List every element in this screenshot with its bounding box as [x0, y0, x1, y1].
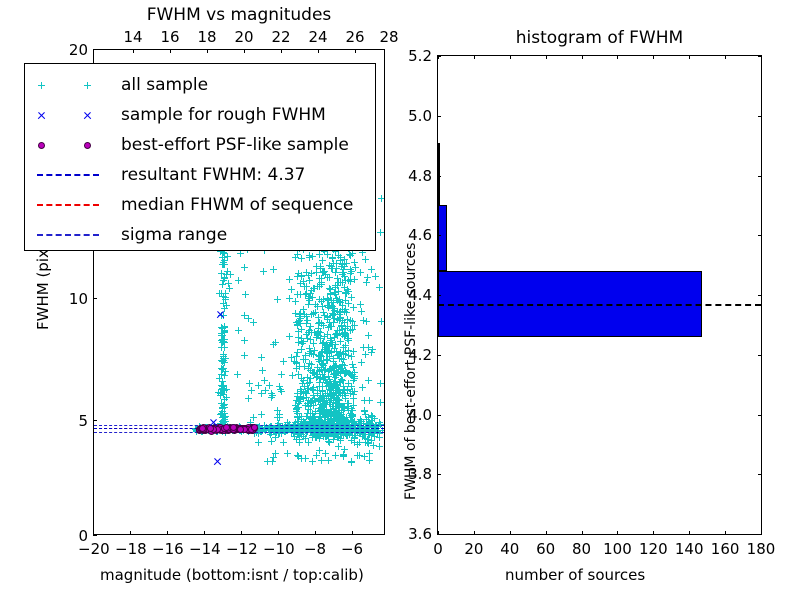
scatter-point-all	[346, 429, 353, 436]
scatter-point-all	[218, 332, 225, 339]
scatter-point-all	[310, 310, 317, 317]
scatter-point-all	[241, 312, 248, 319]
scatter-point-all	[219, 366, 226, 373]
scatter-point-all	[333, 348, 340, 355]
scatter-point-all	[293, 319, 300, 326]
scatter-point-all	[342, 342, 349, 349]
scatter-point-all	[323, 383, 330, 390]
scatter-point-all	[345, 347, 352, 354]
legend-entry[interactable]: resultant FWHM: 4.37	[25, 160, 375, 190]
scatter-point-all	[218, 270, 225, 277]
scatter-point-all	[341, 329, 348, 336]
scatter-point-all	[324, 316, 331, 323]
histogram-y-tick	[758, 355, 762, 356]
scatter-point-all	[304, 380, 311, 387]
scatter-point-all	[326, 343, 333, 350]
scatter-point-all	[327, 397, 334, 404]
scatter-point-all	[365, 440, 372, 447]
scatter-point-all	[364, 436, 371, 443]
scatter-point-all	[316, 296, 323, 303]
scatter-point-all	[220, 261, 227, 268]
scatter-point-all	[284, 450, 291, 457]
scatter-point-all	[335, 416, 342, 423]
dashed-line-icon	[37, 234, 99, 236]
scatter-point-all	[321, 398, 328, 405]
scatter-point-all	[342, 392, 349, 399]
scatter-point-all	[343, 290, 350, 297]
scatter-point-all	[264, 458, 271, 465]
scatter-point-all	[333, 405, 340, 412]
scatter-point-all	[302, 352, 309, 359]
scatter-point-all	[255, 430, 262, 437]
scatter-point-all	[298, 416, 305, 423]
legend-entry[interactable]: best-effort PSF-like sample	[25, 130, 375, 160]
scatter-point-all	[280, 358, 287, 365]
scatter-point-all	[334, 434, 341, 441]
scatter-point-all	[294, 414, 301, 421]
histogram-y-tick	[437, 235, 441, 236]
scatter-point-all	[337, 299, 344, 306]
scatter-point-all	[320, 362, 327, 369]
scatter-point-all	[350, 391, 357, 398]
scatter-point-all	[310, 414, 317, 421]
scatter-point-all	[312, 434, 319, 441]
scatter-point-all	[303, 313, 310, 320]
scatter-point-all	[297, 310, 304, 317]
scatter-point-all	[323, 341, 330, 348]
histogram-x-tick-top	[761, 55, 762, 59]
scatter-point-all	[341, 256, 348, 263]
scatter-point-all	[366, 457, 373, 464]
scatter-point-all	[218, 410, 225, 417]
scatter-point-all	[319, 404, 326, 411]
scatter-point-all	[304, 317, 311, 324]
scatter-point-all	[331, 392, 338, 399]
scatter-point-all	[336, 402, 343, 409]
scatter-point-all	[222, 413, 229, 420]
scatter-point-all	[332, 408, 339, 415]
scatter-point-all	[248, 387, 255, 394]
scatter-point-all	[323, 349, 330, 356]
legend-entry[interactable]: sample for rough FWHM	[25, 100, 375, 130]
scatter-point-all	[333, 411, 340, 418]
scatter-point-all	[346, 370, 353, 377]
scatter-point-all	[339, 326, 346, 333]
scatter-point-all	[344, 403, 351, 410]
scatter-point-all	[319, 388, 326, 395]
histogram-y-ticklabel: 4.8	[388, 167, 432, 185]
scatter-point-all	[241, 337, 248, 344]
legend-entry[interactable]: median FHWM of sequence	[25, 190, 375, 220]
scatter-point-all	[338, 376, 345, 383]
scatter-point-all	[275, 420, 282, 427]
scatter-point-all	[361, 397, 368, 404]
scatter-point-all	[218, 290, 225, 297]
scatter-point-all	[317, 375, 324, 382]
scatter-point-all	[219, 336, 226, 343]
scatter-point-all	[315, 352, 322, 359]
scatter-point-all	[319, 403, 326, 410]
scatter-point-all	[341, 263, 348, 270]
scatter-point-all	[320, 400, 327, 407]
legend-box[interactable]: all samplesample for rough FWHMbest-effo…	[24, 63, 376, 251]
scatter-point-all	[318, 353, 325, 360]
scatter-point-all	[221, 404, 228, 411]
scatter-point-all	[314, 390, 321, 397]
scatter-point-all	[288, 286, 295, 293]
scatter-point-all	[332, 269, 339, 276]
scatter-point-all	[221, 359, 228, 366]
scatter-point-all	[258, 390, 265, 397]
scatter-point-all	[330, 371, 337, 378]
scatter-point-all	[310, 417, 317, 424]
scatter-point-all	[333, 395, 340, 402]
scatter-point-all	[219, 339, 226, 346]
scatter-point-all	[319, 387, 326, 394]
scatter-point-all	[323, 395, 330, 402]
scatter-point-all	[326, 410, 333, 417]
scatter-point-all	[318, 406, 325, 413]
scatter-point-all	[337, 254, 344, 261]
scatter-point-all	[286, 333, 293, 340]
histogram-y-tick	[758, 116, 762, 117]
scatter-point-all	[332, 408, 339, 415]
scatter-point-all	[348, 268, 355, 275]
histogram-y-tick	[758, 176, 762, 177]
scatter-point-all	[308, 287, 315, 294]
scatter-point-all	[321, 414, 328, 421]
scatter-point-all	[298, 388, 305, 395]
scatter-point-all	[310, 414, 317, 421]
scatter-point-all	[307, 429, 314, 436]
scatter-point-all	[333, 372, 340, 379]
histogram-x-ticklabel: 100	[601, 540, 633, 558]
scatter-point-all	[325, 393, 332, 400]
scatter-point-all	[280, 439, 287, 446]
scatter-point-all	[298, 375, 305, 382]
histogram-title: histogram of FWHM	[437, 28, 762, 48]
scatter-point-all	[276, 411, 283, 418]
scatter-point-all	[307, 367, 314, 374]
scatter-point-all	[330, 382, 337, 389]
legend-entry-label: all sample	[121, 75, 208, 95]
scatter-point-all	[336, 298, 343, 305]
scatter-point-all	[347, 390, 354, 397]
scatter-point-all	[341, 446, 348, 453]
scatter-point-all	[308, 311, 315, 318]
scatter-point-all	[301, 420, 308, 427]
scatter-point-all	[351, 418, 358, 425]
scatter-point-all	[313, 374, 320, 381]
scatter-point-all	[292, 254, 299, 261]
scatter-point-all	[246, 380, 253, 387]
scatter-point-all	[293, 360, 300, 367]
scatter-point-all	[319, 269, 326, 276]
scatter-point-all	[347, 270, 354, 277]
scatter-point-all	[331, 363, 338, 370]
scatter-point-all	[307, 290, 314, 297]
scatter-point-all	[345, 400, 352, 407]
scatter-point-all	[347, 414, 354, 421]
scatter-point-all	[320, 269, 327, 276]
scatter-point-all	[365, 344, 372, 351]
scatter-point-all	[357, 301, 364, 308]
scatter-point-all	[313, 263, 320, 270]
scatter-point-all	[326, 274, 333, 281]
scatter-point-all	[329, 255, 336, 262]
scatter-point-all	[270, 266, 277, 273]
scatter-point-all	[310, 340, 317, 347]
scatter-point-all	[299, 340, 306, 347]
scatter-point-all	[358, 359, 365, 366]
scatter-point-all	[255, 439, 262, 446]
scatter-point-all	[221, 387, 228, 394]
scatter-point-all	[342, 342, 349, 349]
scatter-point-all	[322, 411, 329, 418]
scatter-point-all	[268, 394, 275, 401]
scatter-point-all	[332, 452, 339, 459]
scatter-point-all	[218, 324, 225, 331]
scatter-point-all	[241, 352, 248, 359]
scatter-point-all	[318, 298, 325, 305]
scatter-point-all	[331, 416, 338, 423]
scatter-point-all	[348, 417, 355, 424]
scatter-point-all	[344, 316, 351, 323]
scatter-point-all	[342, 370, 349, 377]
scatter-point-all	[310, 351, 317, 358]
scatter-point-all	[327, 290, 334, 297]
legend-entry[interactable]: sigma range	[25, 220, 375, 250]
scatter-point-all	[348, 372, 355, 379]
scatter-point-all	[340, 351, 347, 358]
scatter-point-all	[324, 342, 331, 349]
scatter-point-all	[224, 268, 231, 275]
scatter-point-all	[342, 290, 349, 297]
scatter-point-all	[351, 373, 358, 380]
scatter-point-all	[314, 364, 321, 371]
scatter-point-all	[302, 402, 309, 409]
scatter-point-all	[341, 390, 348, 397]
scatter-point-all	[326, 439, 333, 446]
scatter-point-all	[311, 416, 318, 423]
scatter-point-all	[298, 335, 305, 342]
scatter-point-all	[326, 353, 333, 360]
scatter-point-all	[338, 322, 345, 329]
scatter-point-all	[294, 349, 301, 356]
scatter-point-all	[317, 352, 324, 359]
histogram-y-tick	[437, 176, 441, 177]
scatter-point-all	[321, 346, 328, 353]
scatter-point-all	[298, 272, 305, 279]
scatter-point-all	[218, 330, 225, 337]
sigma-range-lower-line	[94, 432, 384, 433]
scatter-point-all	[266, 382, 273, 389]
scatter-point-all	[330, 380, 337, 387]
scatter-point-all	[217, 392, 224, 399]
scatter-point-all	[330, 311, 337, 318]
histogram-x-tick-top	[582, 55, 583, 59]
scatter-point-all	[351, 434, 358, 441]
scatter-point-all	[219, 414, 226, 421]
scatter-point-all	[376, 434, 383, 441]
scatter-point-all	[342, 325, 349, 332]
scatter-point-all	[303, 394, 310, 401]
histogram-x-ticklabel: 0	[422, 540, 454, 558]
scatter-point-all	[322, 433, 329, 440]
scatter-point-all	[305, 403, 312, 410]
histogram-x-tick	[546, 531, 547, 535]
scatter-point-all	[261, 377, 268, 384]
scatter-point-all	[347, 371, 354, 378]
scatter-point-all	[335, 387, 342, 394]
scatter-point-all	[321, 414, 328, 421]
scatter-point-all	[337, 378, 344, 385]
scatter-point-all	[220, 312, 227, 319]
scatter-point-all	[327, 390, 334, 397]
histogram-resultant-fwhm-line	[438, 304, 761, 306]
scatter-point-all	[294, 410, 301, 417]
scatter-point-all	[336, 296, 343, 303]
scatter-point-all	[358, 308, 365, 315]
scatter-point-all	[331, 289, 338, 296]
scatter-point-all	[327, 417, 334, 424]
scatter-point-all	[218, 371, 225, 378]
scatter-point-all	[326, 399, 333, 406]
legend-entry[interactable]: all sample	[25, 70, 375, 100]
scatter-point-all	[329, 254, 336, 261]
scatter-point-all	[327, 413, 334, 420]
scatter-point-all	[218, 400, 225, 407]
scatter-point-all	[337, 338, 344, 345]
histogram-x-tick-top	[689, 55, 690, 59]
scatter-point-all	[321, 312, 328, 319]
scatter-point-all	[350, 304, 357, 311]
scatter-point-all	[303, 331, 310, 338]
scatter-point-all	[332, 413, 339, 420]
scatter-point-all	[321, 406, 328, 413]
scatter-point-all	[320, 393, 327, 400]
scatter-point-all	[368, 266, 375, 273]
scatter-point-all	[307, 336, 314, 343]
scatter-point-all	[334, 332, 341, 339]
scatter-point-all	[376, 284, 383, 291]
scatter-point-all	[316, 353, 323, 360]
histogram-plot-area	[438, 56, 761, 534]
scatter-point-all	[317, 417, 324, 424]
scatter-point-all	[363, 318, 370, 325]
scatter-point-all	[316, 383, 323, 390]
scatter-point-all	[327, 323, 334, 330]
scatter-point-all	[347, 276, 354, 283]
histogram-x-ticklabel: 20	[458, 540, 490, 558]
scatter-point-all	[376, 443, 383, 450]
scatter-point-all	[319, 409, 326, 416]
scatter-point-all	[315, 328, 322, 335]
scatter-point-all	[318, 279, 325, 286]
scatter-point-all	[342, 332, 349, 339]
scatter-point-all	[313, 269, 320, 276]
scatter-point-all	[319, 398, 326, 405]
scatter-point-rough	[216, 310, 225, 319]
scatter-point-all	[304, 374, 311, 381]
scatter-point-all	[327, 418, 334, 425]
scatter-point-all	[331, 345, 338, 352]
scatter-point-all	[308, 350, 315, 357]
scatter-point-all	[320, 411, 327, 418]
scatter-point-all	[221, 416, 228, 423]
scatter-point-all	[309, 253, 316, 260]
scatter-point-all	[351, 259, 358, 266]
scatter-point-all	[347, 278, 354, 285]
scatter-point-all	[245, 315, 252, 322]
scatter-point-all	[347, 252, 354, 259]
scatter-point-all	[319, 410, 326, 417]
scatter-point-all	[337, 435, 344, 442]
scatter-point-all	[311, 329, 318, 336]
scatter-point-all	[218, 312, 225, 319]
scatter-point-all	[324, 274, 331, 281]
scatter-point-all	[336, 389, 343, 396]
scatter-point-all	[302, 291, 309, 298]
scatter-point-all	[333, 330, 340, 337]
scatter-point-all	[328, 415, 335, 422]
scatter-point-all	[326, 386, 333, 393]
scatter-point-all	[329, 341, 336, 348]
scatter-point-all	[344, 400, 351, 407]
histogram-x-tick	[582, 531, 583, 535]
scatter-point-all	[291, 433, 298, 440]
scatter-point-all	[302, 356, 309, 363]
scatter-point-all	[365, 377, 372, 384]
scatter-point-all	[219, 405, 226, 412]
scatter-point-all	[348, 459, 355, 466]
scatter-point-all	[327, 401, 334, 408]
scatter-point-all	[336, 397, 343, 404]
scatter-point-all	[356, 439, 363, 446]
scatter-point-all	[327, 286, 334, 293]
scatter-point-all	[350, 402, 357, 409]
scatter-point-all	[337, 379, 344, 386]
scatter-point-all	[221, 261, 228, 268]
histogram-x-tick-top	[653, 55, 654, 59]
scatter-point-all	[291, 358, 298, 365]
scatter-point-all	[310, 310, 317, 317]
histogram-y-tick	[437, 474, 441, 475]
scatter-point-all	[223, 394, 230, 401]
scatter-point-all	[321, 374, 328, 381]
scatter-point-all	[332, 389, 339, 396]
scatter-point-all	[339, 414, 346, 421]
scatter-point-all	[372, 273, 379, 280]
scatter-point-all	[340, 453, 347, 460]
scatter-point-all	[338, 355, 345, 362]
histogram-y-ticklabel: 4.6	[388, 226, 432, 244]
scatter-point-all	[292, 310, 299, 317]
scatter-point-all	[339, 362, 346, 369]
scatter-point-all	[218, 382, 225, 389]
scatter-point-all	[317, 265, 324, 272]
scatter-point-all	[311, 395, 318, 402]
scatter-point-all	[333, 385, 340, 392]
scatter-point-all	[322, 401, 329, 408]
scatter-point-all	[325, 432, 332, 439]
scatter-point-all	[293, 353, 300, 360]
scatter-point-all	[344, 386, 351, 393]
dashed-line-icon	[37, 204, 99, 206]
plus-marker-icon	[84, 82, 91, 89]
scatter-point-all	[269, 458, 276, 465]
scatter-point-all	[350, 348, 357, 355]
